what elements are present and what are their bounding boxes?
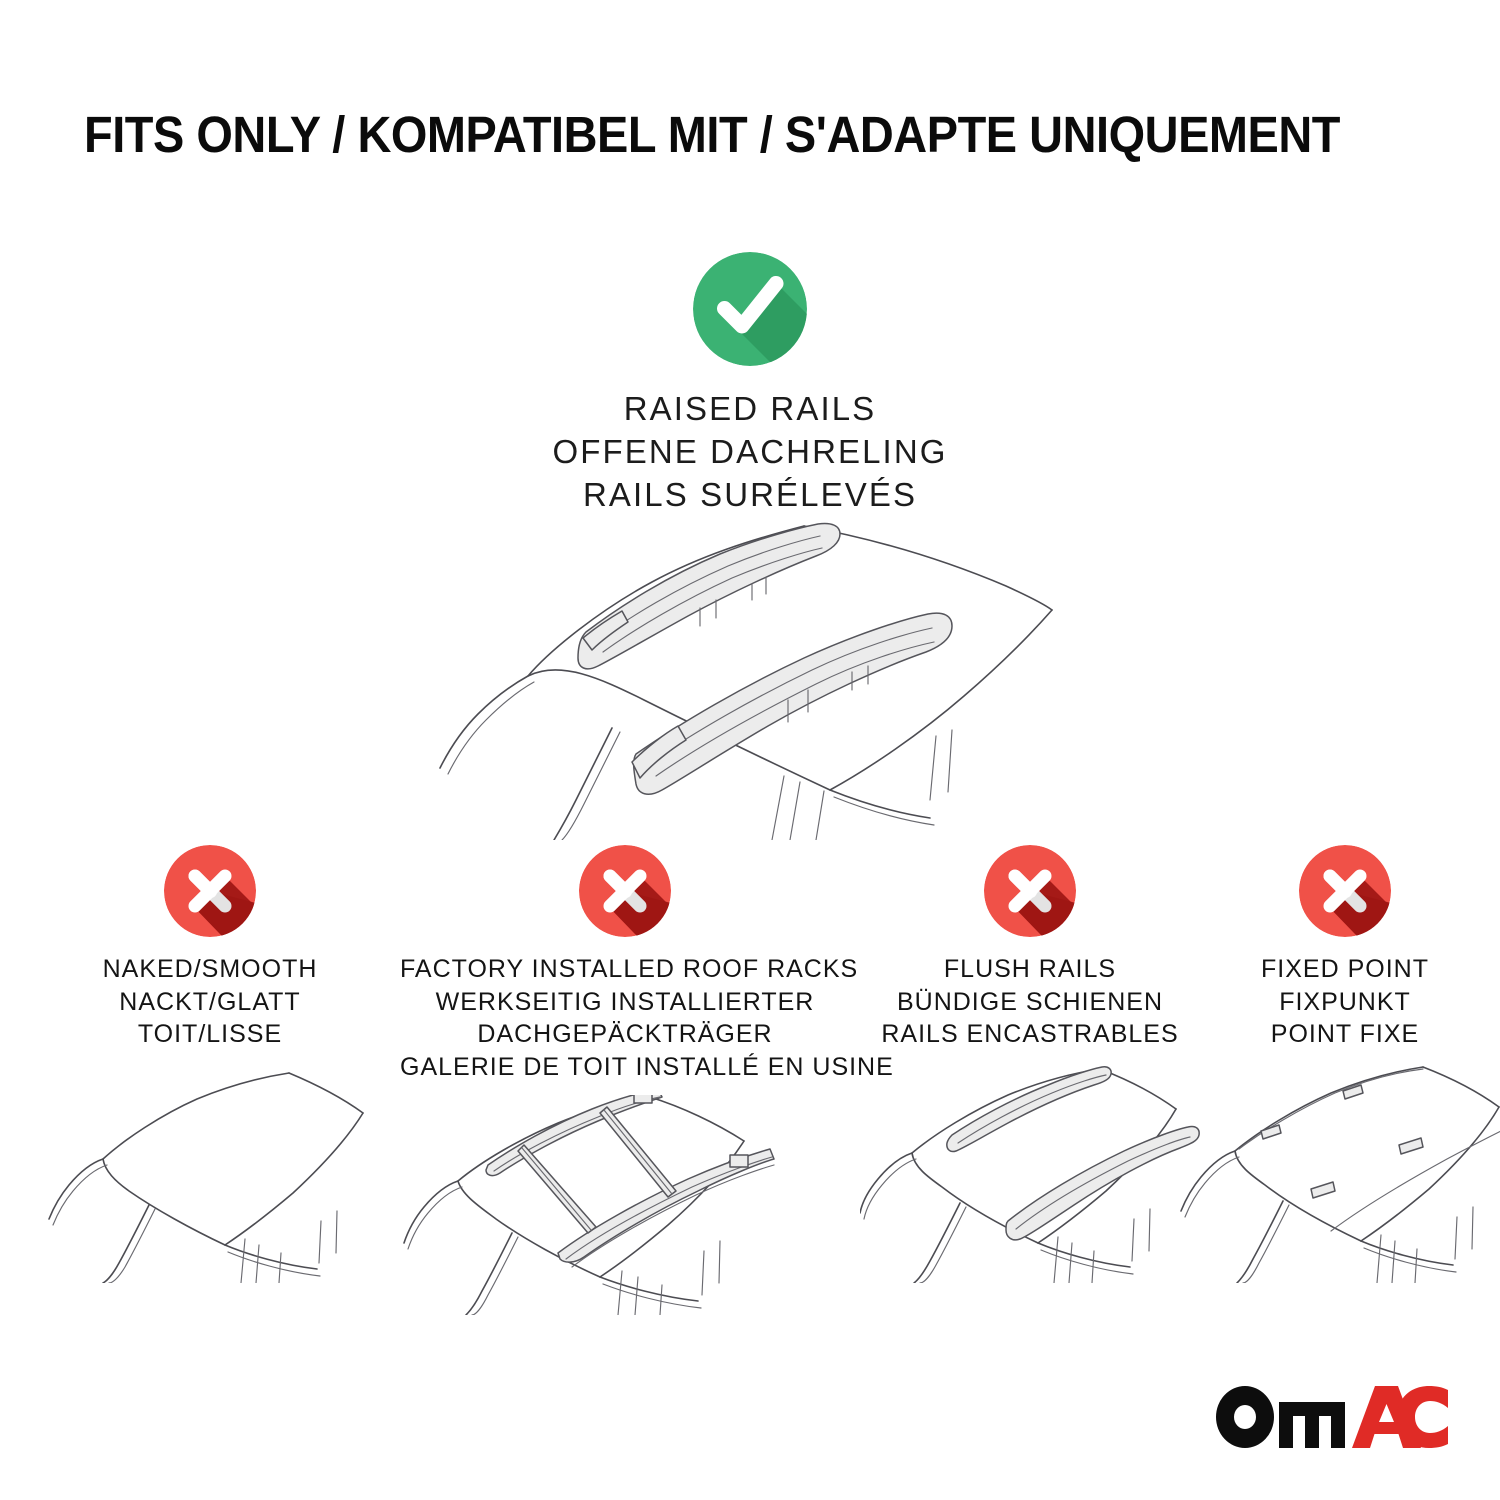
label-fr: TOIT/LISSE [45, 1018, 375, 1051]
label-de: FIXPUNKT [1205, 986, 1485, 1019]
incompatible-labels: FACTORY INSTALLED ROOF RACKS WERKSEITIG … [400, 953, 850, 1083]
car-roof-raised-rails-illustration [400, 500, 1100, 840]
incompatible-section: NAKED/SMOOTH NACKT/GLATT TOIT/LISSE [0, 845, 1500, 1305]
label-en: NAKED/SMOOTH [45, 953, 375, 986]
incompatible-item-naked-smooth: NAKED/SMOOTH NACKT/GLATT TOIT/LISSE [45, 845, 375, 1051]
label-fr: POINT FIXE [1205, 1018, 1485, 1051]
cross-circle-icon [579, 845, 671, 937]
logo-letter-o [1216, 1386, 1274, 1448]
car-roof-factory-racks-illustration [400, 1095, 850, 1315]
car-roof-naked-smooth-illustration [45, 1063, 375, 1283]
car-roof-flush-rails-illustration [860, 1063, 1200, 1283]
label-en: FLUSH RAILS [860, 953, 1200, 986]
incompatible-item-flush-rails: FLUSH RAILS BÜNDIGE SCHIENEN RAILS ENCAS… [860, 845, 1200, 1051]
incompatible-item-factory-racks: FACTORY INSTALLED ROOF RACKS WERKSEITIG … [400, 845, 850, 1083]
incompatible-labels: FLUSH RAILS BÜNDIGE SCHIENEN RAILS ENCAS… [860, 953, 1200, 1051]
compatible-label-de: OFFENE DACHRELING [0, 431, 1500, 474]
label-de-2: DACHGEPÄCKTRÄGER [400, 1018, 850, 1051]
compatible-section: RAISED RAILS OFFENE DACHRELING RAILS SUR… [0, 252, 1500, 517]
label-fr: GALERIE DE TOIT INSTALLÉ EN USINE [400, 1051, 850, 1084]
compatible-label-en: RAISED RAILS [0, 388, 1500, 431]
incompatible-item-fixed-point: FIXED POINT FIXPUNKT POINT FIXE [1205, 845, 1485, 1051]
label-de-1: WERKSEITIG INSTALLIERTER [400, 986, 850, 1019]
compatible-labels: RAISED RAILS OFFENE DACHRELING RAILS SUR… [0, 388, 1500, 517]
incompatible-labels: NAKED/SMOOTH NACKT/GLATT TOIT/LISSE [45, 953, 375, 1051]
cross-circle-icon [1299, 845, 1391, 937]
logo-letter-m [1279, 1402, 1345, 1448]
label-en: FACTORY INSTALLED ROOF RACKS [400, 953, 850, 986]
check-circle-icon [693, 252, 807, 366]
label-fr: RAILS ENCASTRABLES [860, 1018, 1200, 1051]
cross-circle-icon [984, 845, 1076, 937]
label-en: FIXED POINT [1205, 953, 1485, 986]
incompatible-labels: FIXED POINT FIXPUNKT POINT FIXE [1205, 953, 1485, 1051]
label-de: BÜNDIGE SCHIENEN [860, 986, 1200, 1019]
page-title: FITS ONLY / KOMPATIBEL MIT / S'ADAPTE UN… [84, 108, 1317, 162]
label-de: NACKT/GLATT [45, 986, 375, 1019]
car-roof-fixed-point-illustration [1175, 1063, 1500, 1283]
cross-circle-icon [164, 845, 256, 937]
omac-logo [1216, 1386, 1448, 1448]
